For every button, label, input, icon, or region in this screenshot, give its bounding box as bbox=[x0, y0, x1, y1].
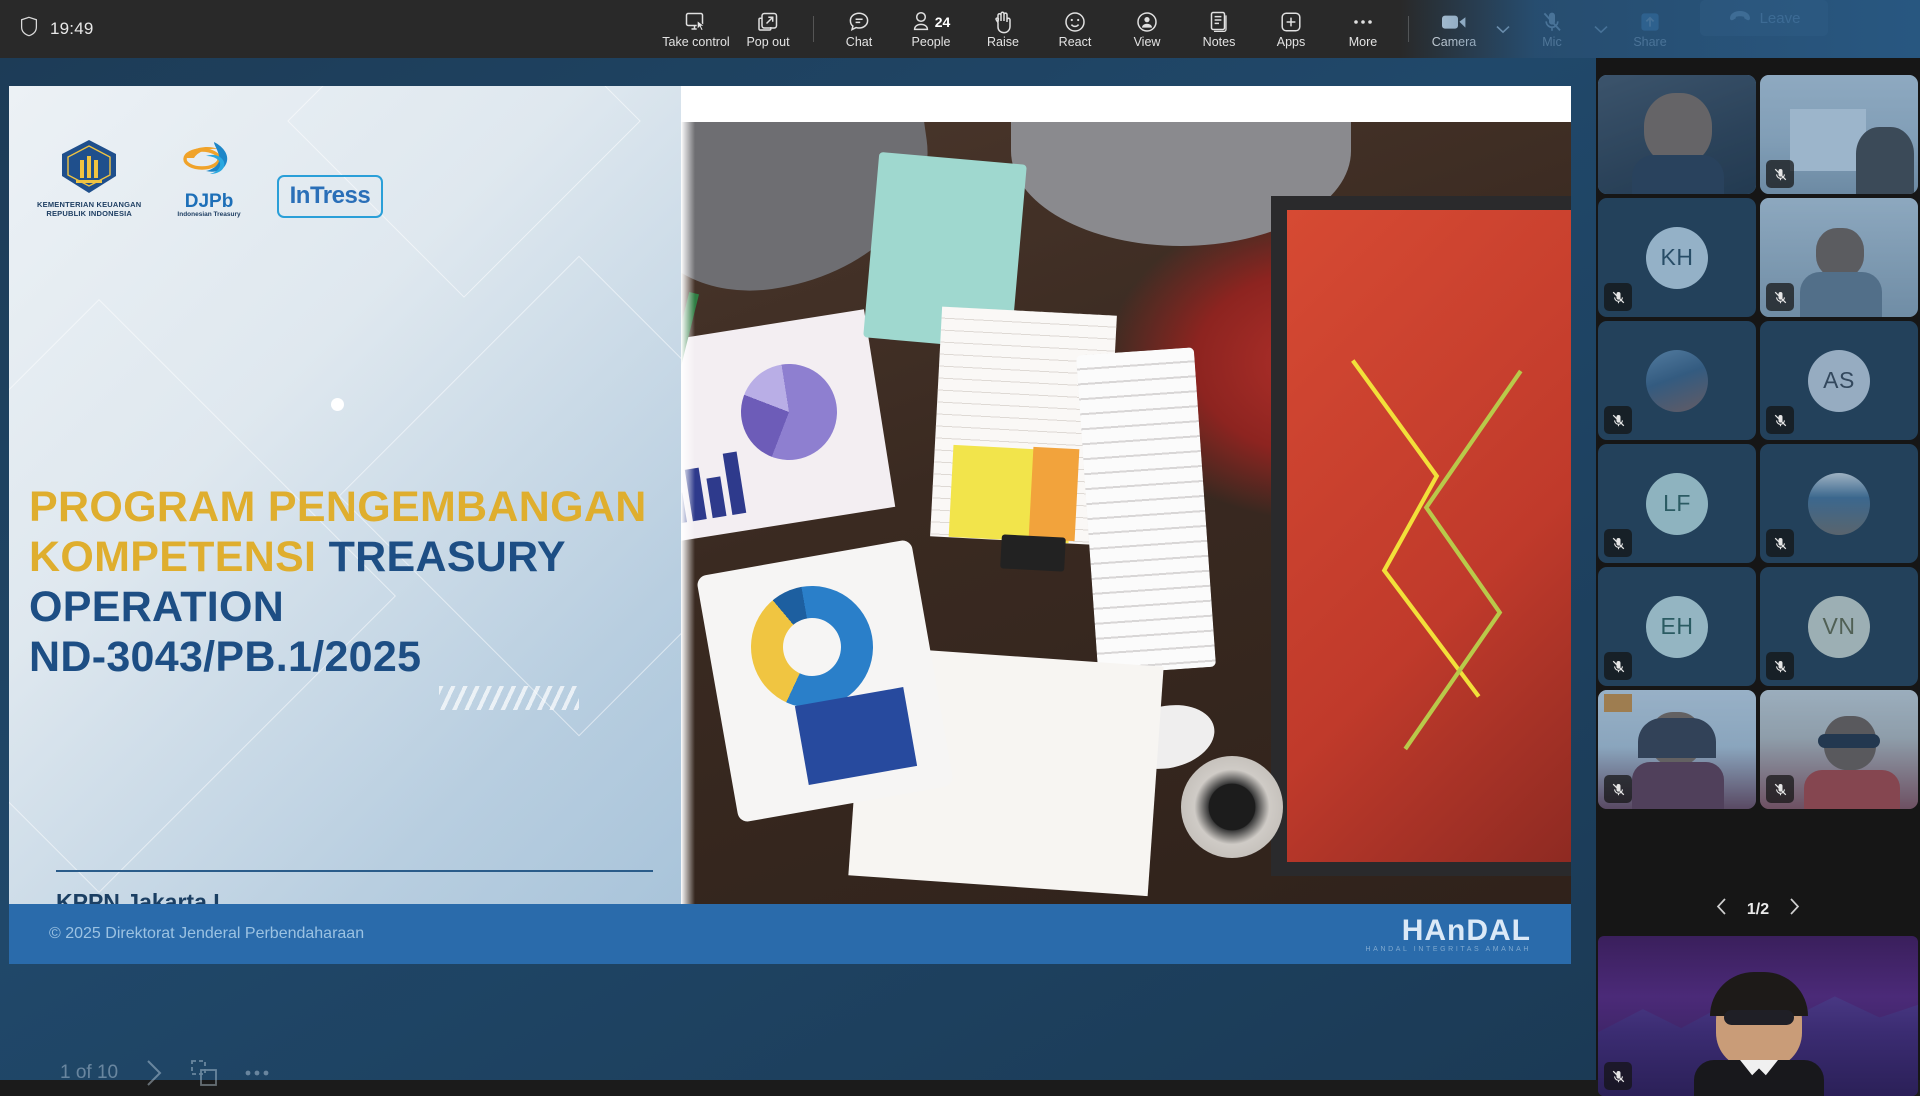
raise-hand-button[interactable]: Raise bbox=[967, 0, 1039, 58]
mic-chevron-down-icon[interactable] bbox=[1588, 0, 1614, 58]
apps-button[interactable]: Apps bbox=[1255, 0, 1327, 58]
mic-off-icon bbox=[1541, 9, 1563, 35]
participant-tile[interactable]: EH bbox=[1598, 567, 1756, 686]
participant-tile[interactable] bbox=[1760, 444, 1918, 563]
participant-tile[interactable]: VN bbox=[1760, 567, 1918, 686]
mic-label: Mic bbox=[1542, 36, 1561, 49]
more-button[interactable]: More bbox=[1327, 0, 1399, 58]
photo-keyboard bbox=[1076, 347, 1216, 674]
meeting-toolbar: 19:49 Take control Pop out Chat bbox=[0, 0, 1920, 58]
handal-brand-subtitle: HANDAL INTEGRITAS AMANAH bbox=[1366, 946, 1531, 953]
toolbar-divider bbox=[1408, 16, 1409, 42]
photo-edge-mask bbox=[681, 96, 695, 964]
react-button[interactable]: React bbox=[1039, 0, 1111, 58]
title-line-3: OPERATION bbox=[29, 582, 669, 632]
mic-button[interactable]: Mic bbox=[1516, 0, 1588, 58]
people-label: People bbox=[912, 36, 951, 49]
take-control-label: Take control bbox=[662, 36, 729, 49]
react-label: React bbox=[1059, 36, 1092, 49]
title-line-2-navy: TREASURY bbox=[329, 533, 566, 581]
title-line-2: KOMPETENSI TREASURY bbox=[29, 532, 669, 582]
avatar: AS bbox=[1808, 350, 1870, 412]
slide-left-panel: KEMENTERIAN KEUANGAN REPUBLIK INDONESIA … bbox=[9, 86, 681, 904]
more-label: More bbox=[1349, 36, 1377, 49]
title-line-4: ND-3043/PB.1/2025 bbox=[29, 632, 669, 682]
pop-out-icon bbox=[757, 9, 779, 35]
djpb-swoosh-icon bbox=[178, 140, 240, 190]
people-button[interactable]: 24 People bbox=[895, 0, 967, 58]
view-label: View bbox=[1134, 36, 1161, 49]
people-count-badge: 24 bbox=[935, 14, 951, 30]
mic-off-icon bbox=[1766, 652, 1794, 680]
avatar: KH bbox=[1646, 227, 1708, 289]
slide-thumbnails-icon[interactable] bbox=[190, 1059, 218, 1087]
kemenkeu-logo: KEMENTERIAN KEUANGAN REPUBLIK INDONESIA bbox=[37, 138, 141, 218]
avatar-photo bbox=[1808, 473, 1870, 535]
intress-logo: InTress bbox=[277, 175, 384, 218]
notes-label: Notes bbox=[1203, 36, 1236, 49]
camera-chevron-down-icon[interactable] bbox=[1490, 0, 1516, 58]
title-line-2-gold: KOMPETENSI bbox=[29, 533, 329, 581]
avatar-photo bbox=[1646, 350, 1708, 412]
avatar: LF bbox=[1646, 473, 1708, 535]
title-line-1: PROGRAM PENGEMBANGAN bbox=[29, 482, 669, 532]
share-up-icon bbox=[1638, 9, 1662, 35]
slide-title: PROGRAM PENGEMBANGAN KOMPETENSI TREASURY… bbox=[29, 482, 669, 682]
view-button[interactable]: View bbox=[1111, 0, 1183, 58]
apps-label: Apps bbox=[1277, 36, 1306, 49]
chevron-right-icon[interactable] bbox=[1789, 898, 1800, 921]
more-ellipsis-icon bbox=[1351, 9, 1375, 35]
mic-off-icon bbox=[1766, 529, 1794, 557]
avatar-initials: VN bbox=[1823, 613, 1856, 640]
participant-tile[interactable]: AS bbox=[1760, 321, 1918, 440]
photo-edge-mask bbox=[681, 96, 1571, 122]
mic-off-icon bbox=[1766, 406, 1794, 434]
pager-label: 1/2 bbox=[1747, 901, 1769, 919]
slide-photo bbox=[681, 96, 1571, 964]
toolbar-actions: Take control Pop out Chat 24 People bbox=[660, 0, 1850, 58]
raise-hand-icon bbox=[992, 9, 1014, 35]
photo-coffee-cup bbox=[1181, 756, 1283, 858]
slide-footer-bar: © 2025 Direktorat Jenderal Perbendaharaa… bbox=[9, 904, 1571, 964]
participants-pager: 1/2 bbox=[1596, 898, 1920, 921]
mic-off-icon bbox=[1766, 160, 1794, 188]
toolbar-left-group: 19:49 bbox=[0, 16, 660, 42]
photo-monitor-lines bbox=[1307, 350, 1571, 770]
participant-tile[interactable] bbox=[1598, 690, 1756, 809]
apps-plus-icon bbox=[1279, 9, 1303, 35]
mic-off-icon bbox=[1604, 529, 1632, 557]
camera-label: Camera bbox=[1432, 36, 1476, 49]
hang-up-icon bbox=[1728, 9, 1752, 27]
mic-off-icon bbox=[1604, 775, 1632, 803]
participant-tile[interactable] bbox=[1760, 75, 1918, 194]
raise-hand-label: Raise bbox=[987, 36, 1019, 49]
camera-icon bbox=[1441, 9, 1467, 35]
djpb-wordmark: DJPb bbox=[185, 192, 234, 211]
kemenkeu-emblem-icon bbox=[58, 138, 120, 196]
mic-off-icon bbox=[1766, 775, 1794, 803]
handal-brand: HAnDAL bbox=[1402, 914, 1531, 948]
participant-tile[interactable] bbox=[1598, 75, 1756, 194]
slide-divider bbox=[56, 870, 653, 872]
chevron-right-icon[interactable] bbox=[144, 1058, 164, 1088]
djpb-subtitle: Indonesian Treasury bbox=[177, 211, 240, 218]
participants-rail: KH bbox=[1596, 58, 1920, 1080]
leave-button[interactable]: Leave bbox=[1700, 0, 1828, 36]
leave-label: Leave bbox=[1760, 12, 1801, 25]
photo-monitor bbox=[1271, 196, 1571, 876]
share-button[interactable]: Share bbox=[1614, 0, 1686, 58]
mic-off-icon bbox=[1604, 1062, 1632, 1090]
participant-tile[interactable] bbox=[1760, 198, 1918, 317]
self-video-tile[interactable] bbox=[1598, 936, 1918, 1096]
chat-label: Chat bbox=[846, 36, 872, 49]
intress-wordmark: InTress bbox=[290, 182, 371, 209]
mic-off-icon bbox=[1604, 652, 1632, 680]
organization-label: KPPN Jakarta I bbox=[56, 889, 220, 904]
notes-icon bbox=[1208, 9, 1230, 35]
notes-button[interactable]: Notes bbox=[1183, 0, 1255, 58]
slide-page-count: 1 of 10 bbox=[60, 1062, 118, 1084]
decor-hatch bbox=[439, 686, 579, 710]
decor-dot bbox=[331, 398, 344, 411]
participant-tile[interactable]: LF bbox=[1598, 444, 1756, 563]
presentation-slide[interactable]: KEMENTERIAN KEUANGAN REPUBLIK INDONESIA … bbox=[9, 86, 1571, 964]
shared-content-stage: KEMENTERIAN KEUANGAN REPUBLIK INDONESIA … bbox=[0, 58, 1596, 1080]
avatar: EH bbox=[1646, 596, 1708, 658]
chat-button[interactable]: Chat bbox=[823, 0, 895, 58]
avatar-initials: KH bbox=[1661, 244, 1694, 271]
avatar-initials: EH bbox=[1661, 613, 1694, 640]
avatar: VN bbox=[1808, 596, 1870, 658]
mic-off-icon bbox=[1604, 406, 1632, 434]
participant-tile[interactable]: KH bbox=[1598, 198, 1756, 317]
participant-tile-grid: KH bbox=[1598, 75, 1918, 809]
avatar-initials: AS bbox=[1823, 367, 1855, 394]
share-label: Share bbox=[1633, 36, 1666, 49]
slide-navigation: 1 of 10 bbox=[60, 1058, 270, 1088]
participant-tile[interactable] bbox=[1598, 321, 1756, 440]
mic-off-icon bbox=[1766, 283, 1794, 311]
djpb-logo: DJPb Indonesian Treasury bbox=[177, 140, 240, 218]
people-icon: 24 bbox=[912, 9, 951, 35]
view-person-icon bbox=[1135, 9, 1159, 35]
copyright-text: © 2025 Direktorat Jenderal Perbendaharaa… bbox=[49, 925, 364, 943]
react-smiley-icon bbox=[1063, 9, 1087, 35]
camera-button[interactable]: Camera bbox=[1418, 0, 1490, 58]
take-control-icon bbox=[684, 9, 708, 35]
shield-icon bbox=[20, 16, 38, 42]
participant-tile[interactable] bbox=[1760, 690, 1918, 809]
slide-more-ellipsis-icon[interactable] bbox=[244, 1069, 270, 1077]
chat-icon bbox=[847, 9, 871, 35]
meeting-clock: 19:49 bbox=[50, 19, 94, 39]
kemenkeu-caption-1: KEMENTERIAN KEUANGAN bbox=[37, 200, 141, 209]
slide-logos: KEMENTERIAN KEUANGAN REPUBLIK INDONESIA … bbox=[37, 138, 383, 218]
chevron-left-icon[interactable] bbox=[1716, 898, 1727, 921]
photo-sticky-note bbox=[1029, 447, 1080, 541]
toolbar-divider bbox=[813, 16, 814, 42]
photo-clip bbox=[1000, 534, 1066, 571]
avatar-initials: LF bbox=[1663, 490, 1691, 517]
pop-out-button[interactable]: Pop out bbox=[732, 0, 804, 58]
mic-off-icon bbox=[1604, 283, 1632, 311]
pop-out-label: Pop out bbox=[746, 36, 789, 49]
kemenkeu-caption-2: REPUBLIK INDONESIA bbox=[46, 209, 132, 218]
take-control-button[interactable]: Take control bbox=[660, 0, 732, 58]
